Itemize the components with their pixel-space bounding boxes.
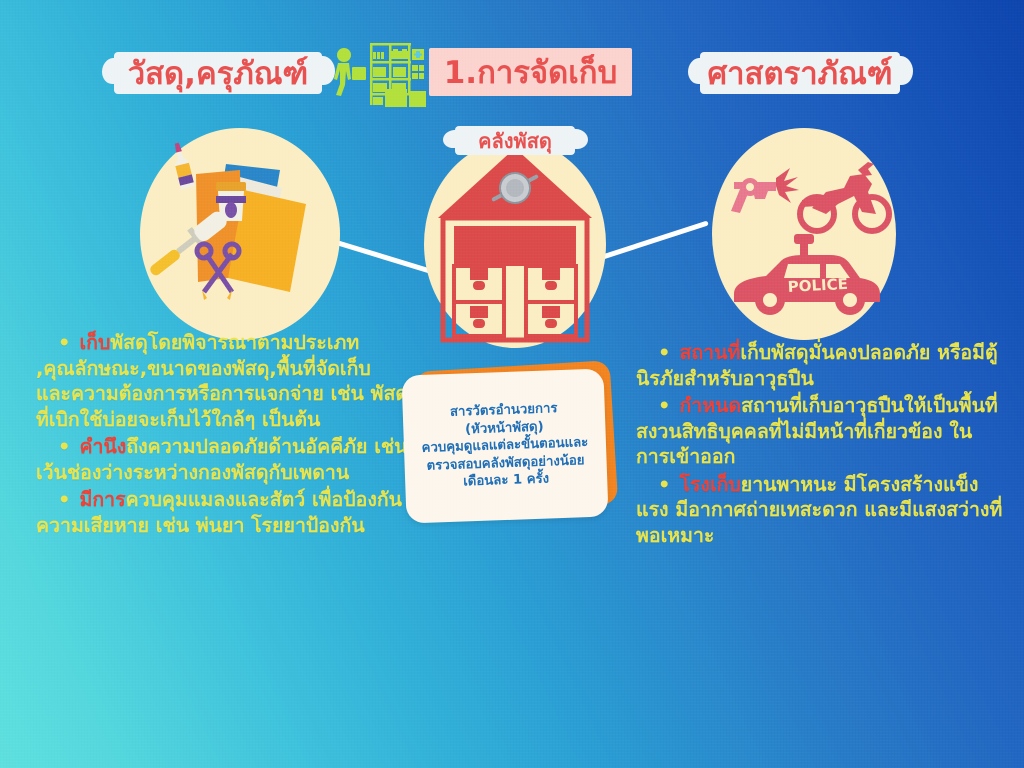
bullet-highlight: คำนึง bbox=[79, 435, 126, 458]
badge-materials-equipment: วัสดุ,ครุภัณฑ์ bbox=[114, 52, 322, 94]
police-car-icon: POLICE bbox=[734, 234, 880, 315]
badge-materials-equipment-label: วัสดุ,ครุภัณฑ์ bbox=[128, 48, 309, 98]
bullet-marker: • bbox=[58, 488, 70, 511]
list-item: •มีการควบคุมแมลงและสัตว์ เพื่อป้องกันควา… bbox=[36, 487, 408, 538]
list-item: •โรงเก็บยานพาหนะ มีโครงสร้างแข็งแรง มีอา… bbox=[636, 472, 1004, 549]
bullet-highlight: มีการ bbox=[79, 488, 125, 511]
badge-section-title: 1.การจัดเก็บ bbox=[429, 48, 632, 96]
svg-text:POLICE: POLICE bbox=[787, 275, 848, 296]
list-item: •สถานที่เก็บพัสดุมั่นคงปลอดภัย หรือมีตู้… bbox=[636, 340, 1004, 391]
revolver-icon bbox=[731, 168, 799, 213]
list-item: •กำหนดสถานที่เก็บอาวุธปืนให้เป็นพื้นที่ส… bbox=[636, 393, 1004, 470]
badge-warehouse-label: คลังพัสดุ bbox=[455, 126, 575, 155]
note-card-text: สารวัตรอำนวยการ (หัวหน้าพัสดุ) ควบคุมดูแ… bbox=[410, 399, 600, 493]
motorcycle-icon bbox=[800, 162, 889, 231]
connector-line-right bbox=[591, 220, 709, 262]
illustration-circle-police-equipment: POLICE bbox=[712, 128, 896, 340]
warehouse-building-icon bbox=[424, 140, 606, 348]
bullet-marker: • bbox=[658, 394, 670, 417]
list-item: •เก็บพัสดุโดยพิจารณาตามประเภท ,คุณลักษณะ… bbox=[36, 330, 408, 432]
illustration-circle-warehouse bbox=[424, 140, 606, 348]
bullet-highlight: เก็บ bbox=[79, 331, 110, 354]
badge-warehouse-text: คลังพัสดุ bbox=[478, 125, 552, 157]
office-supplies-icon bbox=[140, 128, 340, 340]
warehouse-worker-icon bbox=[328, 41, 428, 107]
infographic-slide: วัสดุ,ครุภัณฑ์ bbox=[0, 0, 1024, 768]
list-item: •คำนึงถึงความปลอดภัยด้านอัคคีภัย เช่น เว… bbox=[36, 434, 408, 485]
badge-section-title-label: 1.การจัดเก็บ bbox=[444, 47, 618, 97]
badge-weapons-equipment: ศาสตราภัณฑ์ bbox=[700, 52, 900, 94]
bullet-list-left: •เก็บพัสดุโดยพิจารณาตามประเภท ,คุณลักษณะ… bbox=[36, 330, 408, 540]
badge-weapons-equipment-label: ศาสตราภัณฑ์ bbox=[707, 48, 892, 98]
bullet-marker: • bbox=[58, 435, 70, 458]
bullet-marker: • bbox=[658, 473, 670, 496]
bullet-marker: • bbox=[58, 331, 70, 354]
bullet-highlight: กำหนด bbox=[679, 394, 741, 417]
bullet-list-right: •สถานที่เก็บพัสดุมั่นคงปลอดภัย หรือมีตู้… bbox=[636, 340, 1004, 550]
note-card: สารวัตรอำนวยการ (หัวหน้าพัสดุ) ควบคุมดูแ… bbox=[401, 369, 608, 524]
illustration-circle-office-supplies bbox=[140, 128, 340, 340]
bullet-highlight: สถานที่ bbox=[679, 341, 740, 364]
police-equipment-icon: POLICE bbox=[712, 128, 896, 340]
connector-line-left bbox=[329, 238, 438, 276]
bullet-highlight: โรงเก็บ bbox=[679, 473, 740, 496]
bullet-marker: • bbox=[658, 341, 670, 364]
